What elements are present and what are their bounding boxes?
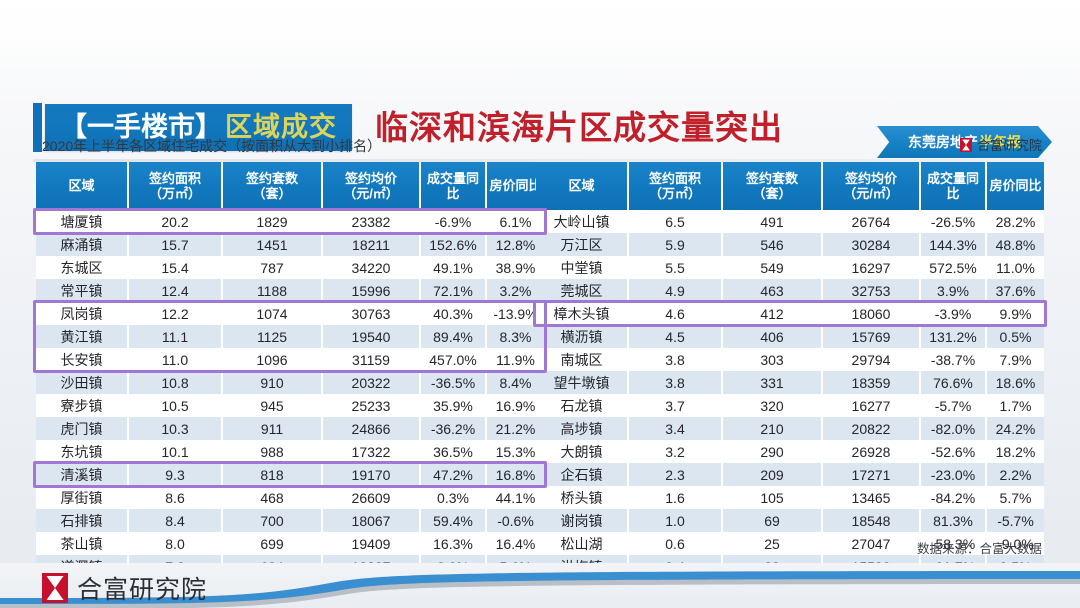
cell-region: 高埗镇 xyxy=(536,417,628,440)
cell-units: 910 xyxy=(222,371,322,394)
cell-volume-yoy: 457.0% xyxy=(420,348,486,371)
col-header-units-line1: 签约套数 xyxy=(746,171,798,186)
cell-area: 10.3 xyxy=(128,417,222,440)
cell-price-yoy: 9.9% xyxy=(986,302,1044,325)
cell-price-yoy: 5.7% xyxy=(986,486,1044,509)
cell-area: 2.3 xyxy=(628,463,722,486)
cell-avg-price: 23382 xyxy=(322,210,420,233)
table-row[interactable]: 寮步镇10.59452523335.9%16.9% xyxy=(36,394,544,417)
table-row[interactable]: 南城区3.830329794-38.7%7.9% xyxy=(536,348,1044,371)
cell-price-yoy: 0.5% xyxy=(986,325,1044,348)
cell-avg-price: 18211 xyxy=(322,233,420,256)
cell-avg-price: 25233 xyxy=(322,394,420,417)
cell-units: 412 xyxy=(722,302,822,325)
cell-volume-yoy: 35.9% xyxy=(420,394,486,417)
cell-units: 911 xyxy=(222,417,322,440)
cell-area: 12.4 xyxy=(128,279,222,302)
table-row[interactable]: 大朗镇3.229026928-52.6%18.2% xyxy=(536,440,1044,463)
cell-volume-yoy: 49.1% xyxy=(420,256,486,279)
cell-units: 463 xyxy=(722,279,822,302)
cell-volume-yoy: -36.2% xyxy=(420,417,486,440)
table-row[interactable]: 东坑镇10.19881732236.5%15.3% xyxy=(36,440,544,463)
cell-units: 105 xyxy=(722,486,822,509)
col-header-area-line2: （万㎡） xyxy=(649,186,701,201)
cell-region: 东城区 xyxy=(36,256,128,279)
col-header-avg-price[interactable]: 签约均价 （元/㎡） xyxy=(822,162,920,210)
cell-price-yoy: 28.2% xyxy=(986,210,1044,233)
col-header-units-line2: （套） xyxy=(752,186,791,201)
cell-region: 长安镇 xyxy=(36,348,128,371)
cell-units: 320 xyxy=(722,394,822,417)
cell-price-yoy: -5.7% xyxy=(986,509,1044,532)
cell-volume-yoy: 59.4% xyxy=(420,509,486,532)
table-row[interactable]: 大岭山镇6.549126764-26.5%28.2% xyxy=(536,210,1044,233)
cell-units: 700 xyxy=(222,509,322,532)
cell-avg-price: 24866 xyxy=(322,417,420,440)
cell-price-yoy: 7.9% xyxy=(986,348,1044,371)
cell-avg-price: 17271 xyxy=(822,463,920,486)
cell-area: 3.4 xyxy=(628,417,722,440)
col-header-volume-yoy-line1: 成交量同 xyxy=(427,171,479,186)
cell-avg-price: 19540 xyxy=(322,325,420,348)
cell-region: 松山湖 xyxy=(536,532,628,555)
cell-avg-price: 26928 xyxy=(822,440,920,463)
table-row[interactable]: 长安镇11.0109631159457.0%11.9% xyxy=(36,348,544,371)
cell-area: 4.9 xyxy=(628,279,722,302)
cell-avg-price: 18060 xyxy=(822,302,920,325)
cell-region: 谢岗镇 xyxy=(536,509,628,532)
cell-region: 石排镇 xyxy=(36,509,128,532)
col-header-avg-price-line1: 签约均价 xyxy=(845,171,897,186)
cell-area: 5.5 xyxy=(628,256,722,279)
table-row[interactable]: 茶山镇8.06991940916.3%16.4% xyxy=(36,532,544,555)
col-header-price-yoy-line1: 房价同比 xyxy=(989,178,1041,193)
table-row[interactable]: 黄江镇11.111251954089.4%8.3% xyxy=(36,325,544,348)
cell-area: 11.0 xyxy=(128,348,222,371)
cell-price-yoy: 11.0% xyxy=(986,256,1044,279)
cell-price-yoy: 24.2% xyxy=(986,417,1044,440)
cell-volume-yoy: 89.4% xyxy=(420,325,486,348)
cell-region: 黄江镇 xyxy=(36,325,128,348)
cell-avg-price: 30284 xyxy=(822,233,920,256)
cell-volume-yoy: -5.7% xyxy=(920,394,986,417)
col-header-volume-yoy-line2: 比 xyxy=(446,186,459,201)
cell-area: 1.6 xyxy=(628,486,722,509)
table-body-left: 塘厦镇20.2182923382-6.9%6.1%麻涌镇15.714511821… xyxy=(36,210,544,601)
hourglass-icon xyxy=(960,138,972,152)
col-header-units-line1: 签约套数 xyxy=(246,171,298,186)
cell-units: 210 xyxy=(722,417,822,440)
cell-volume-yoy: -36.5% xyxy=(420,371,486,394)
table-row[interactable]: 东城区15.47873422049.1%38.9% xyxy=(36,256,544,279)
table-head: 区域 签约面积 （万㎡） 签约套数 （套） 签约均价 （元/㎡） 成交量同 比 xyxy=(36,162,544,210)
table-header-row: 区域 签约面积 （万㎡） 签约套数 （套） 签约均价 （元/㎡） 成交量同 比 xyxy=(536,162,1044,210)
col-header-volume-yoy-line2: 比 xyxy=(946,186,959,201)
cell-volume-yoy: -23.0% xyxy=(920,463,986,486)
region-table-right: 区域 签约面积 （万㎡） 签约套数 （套） 签约均价 （元/㎡） 成交量同 比 xyxy=(536,162,1044,578)
col-header-avg-price[interactable]: 签约均价 （元/㎡） xyxy=(322,162,420,210)
cell-volume-yoy: 152.6% xyxy=(420,233,486,256)
table-row[interactable]: 石排镇8.47001806759.4%-0.6% xyxy=(36,509,544,532)
cell-region: 塘厦镇 xyxy=(36,210,128,233)
col-header-area-line1: 签约面积 xyxy=(649,171,701,186)
header-accent-bar xyxy=(33,103,42,152)
cell-avg-price: 15996 xyxy=(322,279,420,302)
cell-region: 常平镇 xyxy=(36,279,128,302)
cell-units: 491 xyxy=(722,210,822,233)
col-header-region-line1: 区域 xyxy=(568,178,594,193)
cell-units: 818 xyxy=(222,463,322,486)
cell-area: 10.5 xyxy=(128,394,222,417)
table-row[interactable]: 塘厦镇20.2182923382-6.9%6.1% xyxy=(36,210,544,233)
cell-volume-yoy: 81.3% xyxy=(920,509,986,532)
table-row[interactable]: 高埗镇3.421020822-82.0%24.2% xyxy=(536,417,1044,440)
cell-avg-price: 16277 xyxy=(822,394,920,417)
cell-volume-yoy: 16.3% xyxy=(420,532,486,555)
cell-area: 4.5 xyxy=(628,325,722,348)
cell-units: 468 xyxy=(222,486,322,509)
table-row[interactable]: 石龙镇3.732016277-5.7%1.7% xyxy=(536,394,1044,417)
cell-region: 南城区 xyxy=(536,348,628,371)
cell-region: 樟木头镇 xyxy=(536,302,628,325)
table-row[interactable]: 凤岗镇12.210743076340.3%-13.9% xyxy=(36,302,544,325)
cell-area: 3.8 xyxy=(628,371,722,394)
cell-volume-yoy: -3.9% xyxy=(920,302,986,325)
cell-volume-yoy: -26.5% xyxy=(920,210,986,233)
table-head: 区域 签约面积 （万㎡） 签约套数 （套） 签约均价 （元/㎡） 成交量同 比 xyxy=(536,162,1044,210)
col-header-region-line1: 区域 xyxy=(68,178,94,193)
cell-region: 企石镇 xyxy=(536,463,628,486)
cell-avg-price: 27047 xyxy=(822,532,920,555)
col-header-units-line2: （套） xyxy=(252,186,291,201)
cell-avg-price: 19170 xyxy=(322,463,420,486)
cell-units: 1096 xyxy=(222,348,322,371)
table-row[interactable]: 厚街镇8.6468266090.3%44.1% xyxy=(36,486,544,509)
cell-avg-price: 16297 xyxy=(822,256,920,279)
col-header-units[interactable]: 签约套数 （套） xyxy=(222,162,322,210)
col-header-region[interactable]: 区域 xyxy=(36,162,128,210)
table-body-right: 大岭山镇6.549126764-26.5%28.2%万江区5.954630284… xyxy=(536,210,1044,578)
cell-region: 东坑镇 xyxy=(36,440,128,463)
col-header-area-line1: 签约面积 xyxy=(149,171,201,186)
cell-avg-price: 18067 xyxy=(322,509,420,532)
cell-avg-price: 20822 xyxy=(822,417,920,440)
cell-region: 凤岗镇 xyxy=(36,302,128,325)
cell-units: 290 xyxy=(722,440,822,463)
cell-volume-yoy: 131.2% xyxy=(920,325,986,348)
cell-region: 沙田镇 xyxy=(36,371,128,394)
cell-units: 1188 xyxy=(222,279,322,302)
cell-avg-price: 19409 xyxy=(322,532,420,555)
cell-units: 699 xyxy=(222,532,322,555)
cell-avg-price: 26764 xyxy=(822,210,920,233)
table-row[interactable]: 常平镇12.411881599672.1%3.2% xyxy=(36,279,544,302)
hourglass-logo-icon xyxy=(42,573,68,603)
cell-avg-price: 18359 xyxy=(822,371,920,394)
cell-units: 25 xyxy=(722,532,822,555)
col-header-area[interactable]: 签约面积 （万㎡） xyxy=(128,162,222,210)
col-header-avg-price-line2: （元/㎡） xyxy=(343,186,399,201)
cell-price-yoy: 1.7% xyxy=(986,394,1044,417)
cell-volume-yoy: 144.3% xyxy=(920,233,986,256)
col-header-avg-price-line2: （元/㎡） xyxy=(843,186,899,201)
table-row[interactable]: 虎门镇10.391124866-36.2%21.2% xyxy=(36,417,544,440)
cell-avg-price: 17322 xyxy=(322,440,420,463)
table-row[interactable]: 樟木头镇4.641218060-3.9%9.9% xyxy=(536,302,1044,325)
slide-header: 【一手楼市】 区域成交 临深和滨海片区成交量突出 东莞房地产 半年报 xyxy=(0,46,1080,118)
cell-units: 303 xyxy=(722,348,822,371)
cell-area: 3.8 xyxy=(628,348,722,371)
cell-region: 桥头镇 xyxy=(536,486,628,509)
table-row[interactable]: 桥头镇1.610513465-84.2%5.7% xyxy=(536,486,1044,509)
cell-volume-yoy: 36.5% xyxy=(420,440,486,463)
col-header-avg-price-line1: 签约均价 xyxy=(345,171,397,186)
cell-units: 1829 xyxy=(222,210,322,233)
cell-units: 209 xyxy=(722,463,822,486)
cell-avg-price: 15769 xyxy=(822,325,920,348)
cell-avg-price: 26609 xyxy=(322,486,420,509)
cell-volume-yoy: -84.2% xyxy=(920,486,986,509)
col-header-area-line2: （万㎡） xyxy=(149,186,201,201)
table-caption: 2020年上半年各区域住宅成交（按面积从大到小排名） xyxy=(42,136,381,156)
cell-volume-yoy: -6.9% xyxy=(420,210,486,233)
region-table-left: 区域 签约面积 （万㎡） 签约套数 （套） 签约均价 （元/㎡） 成交量同 比 xyxy=(36,162,544,601)
cell-area: 8.6 xyxy=(128,486,222,509)
cell-volume-yoy: 47.2% xyxy=(420,463,486,486)
cell-region: 中堂镇 xyxy=(536,256,628,279)
col-header-units[interactable]: 签约套数 （套） xyxy=(722,162,822,210)
cell-area: 9.3 xyxy=(128,463,222,486)
cell-volume-yoy: -52.6% xyxy=(920,440,986,463)
cell-region: 寮步镇 xyxy=(36,394,128,417)
table-row[interactable]: 谢岗镇1.0691854881.3%-5.7% xyxy=(536,509,1044,532)
cell-avg-price: 20322 xyxy=(322,371,420,394)
cell-volume-yoy: 572.5% xyxy=(920,256,986,279)
table-row[interactable]: 横沥镇4.540615769131.2%0.5% xyxy=(536,325,1044,348)
cell-price-yoy: 48.8% xyxy=(986,233,1044,256)
footer-brand: 合富研究院 xyxy=(42,570,207,606)
cell-region: 大岭山镇 xyxy=(536,210,628,233)
table-row[interactable]: 中堂镇5.554916297572.5%11.0% xyxy=(536,256,1044,279)
cell-avg-price: 32753 xyxy=(822,279,920,302)
cell-area: 10.8 xyxy=(128,371,222,394)
cell-area: 11.1 xyxy=(128,325,222,348)
cell-region: 望牛墩镇 xyxy=(536,371,628,394)
cell-volume-yoy: 0.3% xyxy=(420,486,486,509)
cell-units: 331 xyxy=(722,371,822,394)
cell-area: 8.0 xyxy=(128,532,222,555)
col-header-price-yoy-line1: 房价同比 xyxy=(489,178,541,193)
cell-region: 麻涌镇 xyxy=(36,233,128,256)
top-white-band xyxy=(0,0,1080,46)
cell-area: 0.6 xyxy=(628,532,722,555)
cell-price-yoy: 18.2% xyxy=(986,440,1044,463)
cell-area: 12.2 xyxy=(128,302,222,325)
cell-area: 3.2 xyxy=(628,440,722,463)
table-row[interactable]: 清溪镇9.38181917047.2%16.8% xyxy=(36,463,544,486)
cell-region: 石龙镇 xyxy=(536,394,628,417)
cell-avg-price: 18548 xyxy=(822,509,920,532)
cell-area: 8.4 xyxy=(128,509,222,532)
col-header-volume-yoy[interactable]: 成交量同 比 xyxy=(920,162,986,210)
cell-avg-price: 31159 xyxy=(322,348,420,371)
table-header-row: 区域 签约面积 （万㎡） 签约套数 （套） 签约均价 （元/㎡） 成交量同 比 xyxy=(36,162,544,210)
cell-volume-yoy: 76.6% xyxy=(920,371,986,394)
brand-mini-label: 合富研究院 xyxy=(977,135,1042,154)
cell-region: 虎门镇 xyxy=(36,417,128,440)
footer-brand-label: 合富研究院 xyxy=(77,570,207,606)
brand-mini: 合富研究院 xyxy=(960,135,1042,154)
cell-units: 1125 xyxy=(222,325,322,348)
cell-volume-yoy: 40.3% xyxy=(420,302,486,325)
region-table-right-wrapper: 区域 签约面积 （万㎡） 签约套数 （套） 签约均价 （元/㎡） 成交量同 比 xyxy=(536,162,1044,578)
cell-region: 厚街镇 xyxy=(36,486,128,509)
cell-avg-price: 34220 xyxy=(322,256,420,279)
cell-units: 546 xyxy=(722,233,822,256)
cell-region: 清溪镇 xyxy=(36,463,128,486)
col-header-price-yoy[interactable]: 房价同比 xyxy=(986,162,1044,210)
cell-units: 549 xyxy=(722,256,822,279)
cell-units: 988 xyxy=(222,440,322,463)
cell-region: 大朗镇 xyxy=(536,440,628,463)
table-row[interactable]: 万江区5.954630284144.3%48.8% xyxy=(536,233,1044,256)
cell-volume-yoy: 3.9% xyxy=(920,279,986,302)
col-header-volume-yoy[interactable]: 成交量同 比 xyxy=(420,162,486,210)
cell-area: 4.6 xyxy=(628,302,722,325)
table-row[interactable]: 望牛墩镇3.83311835976.6%18.6% xyxy=(536,371,1044,394)
cell-area: 20.2 xyxy=(128,210,222,233)
cell-units: 1074 xyxy=(222,302,322,325)
table-row[interactable]: 麻涌镇15.7145118211152.6%12.8% xyxy=(36,233,544,256)
cell-units: 945 xyxy=(222,394,322,417)
cell-region: 万江区 xyxy=(536,233,628,256)
cell-region: 莞城区 xyxy=(536,279,628,302)
region-table-left-wrapper: 区域 签约面积 （万㎡） 签约套数 （套） 签约均价 （元/㎡） 成交量同 比 xyxy=(36,162,544,601)
cell-area: 15.7 xyxy=(128,233,222,256)
cell-area: 3.7 xyxy=(628,394,722,417)
cell-region: 茶山镇 xyxy=(36,532,128,555)
cell-area: 6.5 xyxy=(628,210,722,233)
data-source-note: 数据来源：合富大数据 xyxy=(917,538,1042,557)
table-row[interactable]: 沙田镇10.891020322-36.5%8.4% xyxy=(36,371,544,394)
cell-area: 1.0 xyxy=(628,509,722,532)
cell-area: 15.4 xyxy=(128,256,222,279)
table-row[interactable]: 企石镇2.320917271-23.0%2.2% xyxy=(536,463,1044,486)
cell-area: 5.9 xyxy=(628,233,722,256)
cell-units: 69 xyxy=(722,509,822,532)
col-header-volume-yoy-line1: 成交量同 xyxy=(927,171,979,186)
cell-avg-price: 29794 xyxy=(822,348,920,371)
cell-volume-yoy: -38.7% xyxy=(920,348,986,371)
col-header-area[interactable]: 签约面积 （万㎡） xyxy=(628,162,722,210)
cell-units: 787 xyxy=(222,256,322,279)
cell-avg-price: 13465 xyxy=(822,486,920,509)
cell-price-yoy: 37.6% xyxy=(986,279,1044,302)
table-row[interactable]: 莞城区4.9463327533.9%37.6% xyxy=(536,279,1044,302)
cell-price-yoy: 18.6% xyxy=(986,371,1044,394)
cell-volume-yoy: -82.0% xyxy=(920,417,986,440)
cell-units: 406 xyxy=(722,325,822,348)
page-title: 临深和滨海片区成交量突出 xyxy=(375,108,783,148)
col-header-region[interactable]: 区域 xyxy=(536,162,628,210)
cell-region: 横沥镇 xyxy=(536,325,628,348)
cell-price-yoy: 2.2% xyxy=(986,463,1044,486)
cell-units: 1451 xyxy=(222,233,322,256)
cell-area: 10.1 xyxy=(128,440,222,463)
cell-volume-yoy: 72.1% xyxy=(420,279,486,302)
cell-avg-price: 30763 xyxy=(322,302,420,325)
